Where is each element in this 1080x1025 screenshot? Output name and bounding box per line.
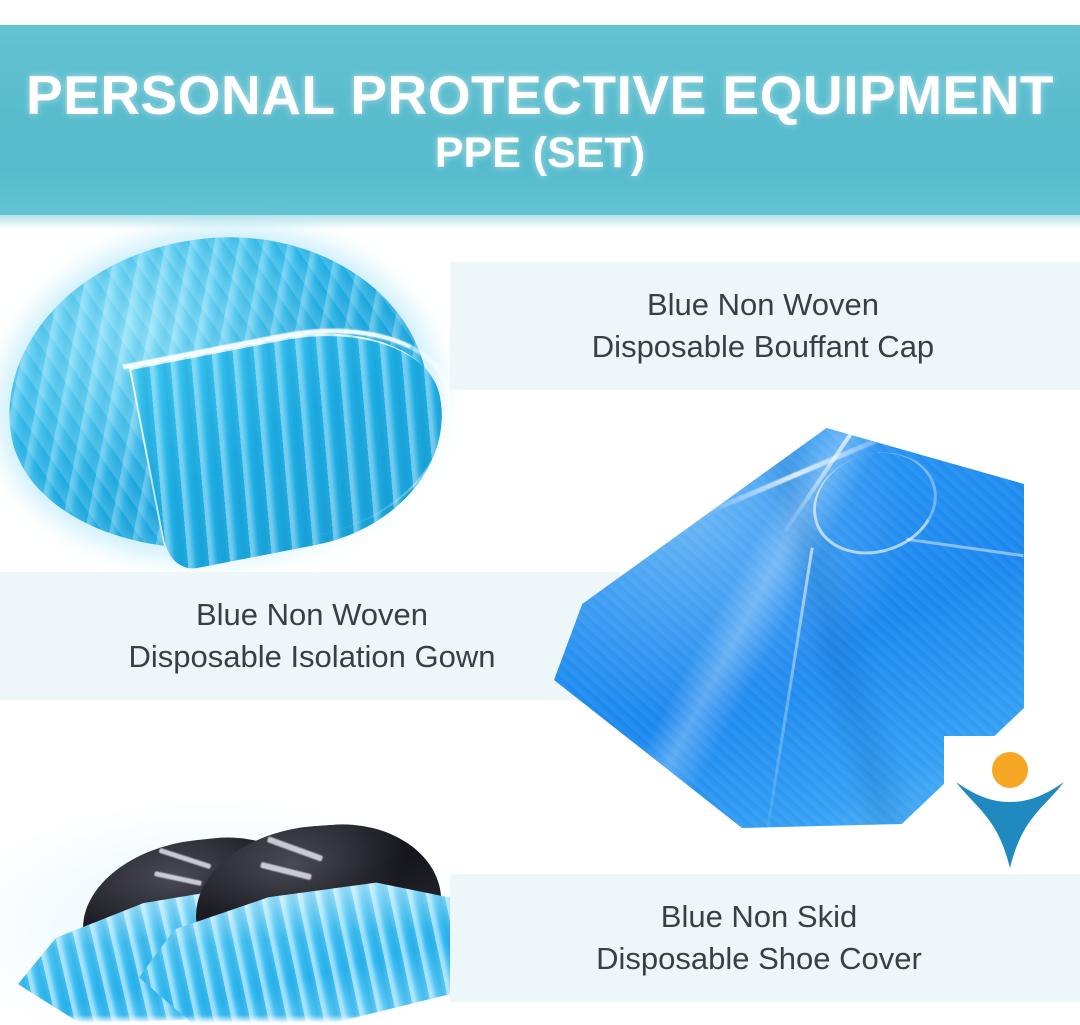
ppe-poster: PERSONAL PROTECTIVE EQUIPMENT PPE (SET) … (0, 0, 1080, 1025)
top-margin (0, 0, 1080, 26)
person-figure-logo (944, 736, 1076, 876)
caption-shoe-cover: Blue Non Skid Disposable Shoe Cover (450, 874, 1080, 1002)
caption-isolation-gown: Blue Non Woven Disposable Isolation Gown (0, 572, 620, 700)
caption-isolation-gown-line1: Blue Non Woven (196, 594, 428, 636)
poster-header: PERSONAL PROTECTIVE EQUIPMENT PPE (SET) (0, 25, 1080, 215)
caption-bouffant-cap: Blue Non Woven Disposable Bouffant Cap (450, 262, 1080, 390)
caption-isolation-gown-line2: Disposable Isolation Gown (128, 636, 495, 678)
page-subtitle: PPE (SET) (435, 127, 645, 181)
caption-bouffant-cap-line2: Disposable Bouffant Cap (592, 326, 934, 368)
page-title: PERSONAL PROTECTIVE EQUIPMENT (26, 67, 1054, 123)
caption-shoe-cover-line2: Disposable Shoe Cover (596, 938, 922, 980)
bouffant-cap-photo (0, 214, 446, 583)
caption-bouffant-cap-line1: Blue Non Woven (647, 284, 879, 326)
shoe-cover-photo (8, 806, 478, 1025)
caption-shoe-cover-line1: Blue Non Skid (661, 896, 857, 938)
logo-head-icon (992, 752, 1028, 788)
